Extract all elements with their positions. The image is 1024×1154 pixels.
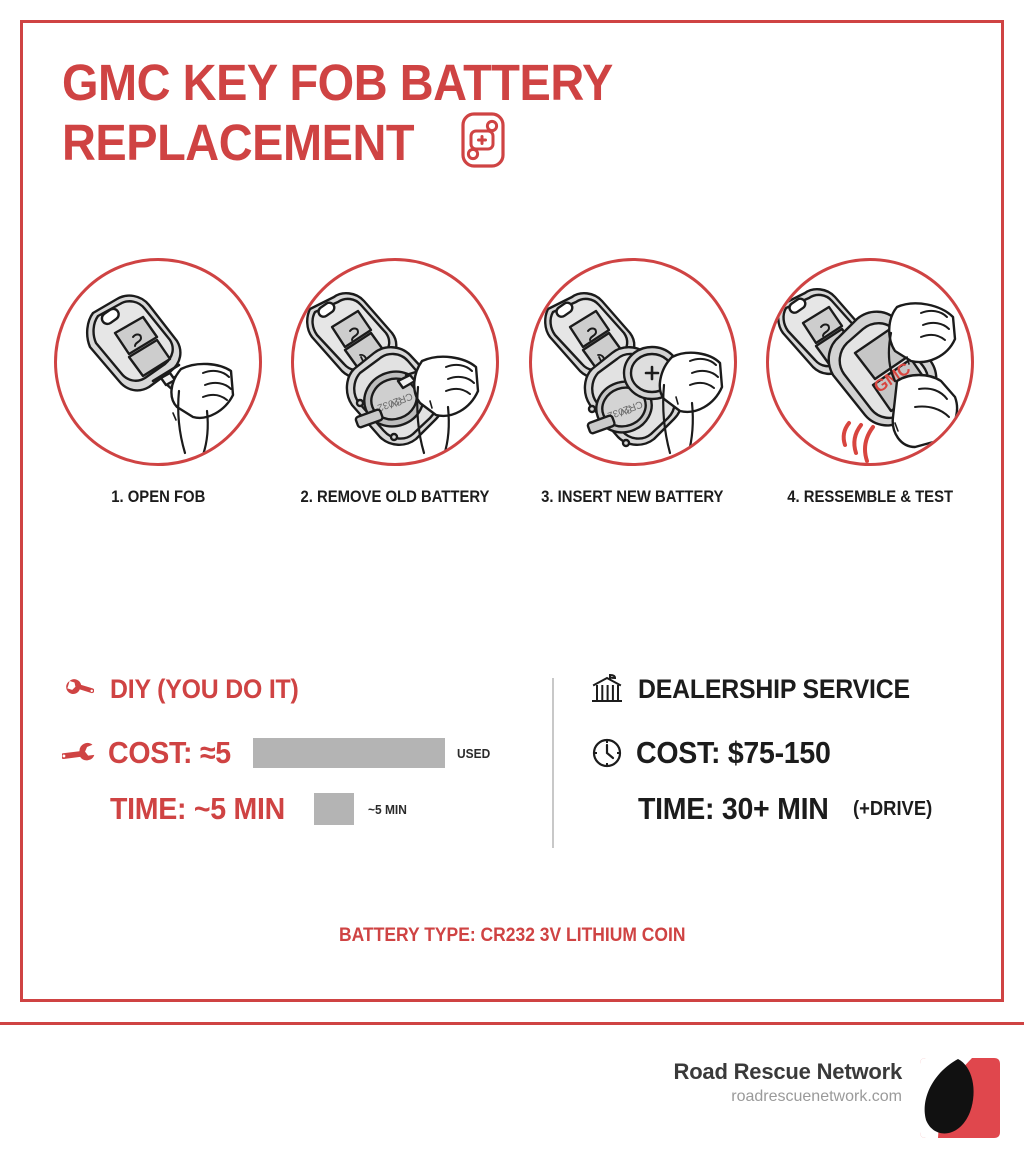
diy-time-row: TIME: ~5 MIN ~5 MIN [62, 788, 532, 830]
step-2: CR2032 3V 2. REMOVE OL [281, 258, 509, 538]
diy-time-bar-caption: ~5 MIN [368, 802, 407, 817]
diy-cost-bar [253, 738, 445, 768]
key-fob-icon [459, 111, 507, 174]
diy-cost-bar-caption: USED [457, 746, 490, 761]
road-rescue-network-logo [914, 1054, 1006, 1146]
step-4: GMC [756, 258, 984, 538]
step-4-label: 4. RESSEMBLE & TEST [787, 488, 953, 507]
steps-row: 1. OPEN FOB [44, 258, 984, 538]
step-1-label: 1. OPEN FOB [111, 488, 205, 507]
dealership-cost-label: COST: $75-150 [636, 735, 831, 771]
footer-divider-rule [0, 1022, 1024, 1025]
dealership-heading: DEALERSHIP SERVICE [638, 674, 910, 705]
title-line-1: GMC KEY FOB BATTERY [62, 55, 761, 111]
step-1: 1. OPEN FOB [44, 258, 272, 538]
battery-type-note: BATTERY TYPE: CR232 3V LITHIUM COIN [0, 925, 1024, 947]
battery-type-text: BATTERY TYPE: CR232 3V LITHIUM COIN [339, 925, 685, 947]
diy-cost-label: COST: ≈5 [108, 735, 231, 771]
dealership-column: DEALERSHIP SERVICE COST: $75-150 TIME: 3… [590, 668, 1010, 830]
step-3: CR2032 3V 3. INSERT NE [519, 258, 747, 538]
clock-icon [590, 736, 624, 770]
footer: Road Rescue Network roadrescuenetwork.co… [0, 1040, 1024, 1150]
dealership-time-row: TIME: 30+ MIN (+DRIVE) [590, 788, 1010, 830]
diy-heading-row: DIY (YOU DO IT) [62, 668, 532, 710]
step-1-illustration [54, 258, 262, 466]
dealership-time-note: (+DRIVE) [853, 798, 932, 821]
wrench-icon [62, 672, 96, 706]
comparison-divider [552, 678, 554, 848]
dealership-cost-row: COST: $75-150 [590, 732, 1010, 774]
dealership-heading-row: DEALERSHIP SERVICE [590, 668, 1010, 710]
brand-url: roadrescuenetwork.com [674, 1086, 903, 1108]
diy-time-bar [314, 793, 354, 825]
step-3-illustration: CR2032 3V [529, 258, 737, 466]
step-2-illustration: CR2032 3V [291, 258, 499, 466]
dealership-time-label: TIME: 30+ MIN [638, 791, 829, 827]
diy-time-label: TIME: ~5 MIN [110, 791, 285, 827]
title-line-2: REPLACEMENT [62, 115, 414, 171]
bank-icon [590, 672, 624, 706]
step-2-label: 2. REMOVE OLD BATTERY [301, 488, 490, 507]
diy-heading: DIY (YOU DO IT) [110, 674, 299, 705]
brand-name: Road Rescue Network [674, 1058, 903, 1086]
comparison-section: DIY (YOU DO IT) COST: ≈5 USED TIME: ~5 M… [62, 668, 962, 848]
step-4-illustration: GMC [766, 258, 974, 466]
diy-cost-row: COST: ≈5 USED [62, 732, 532, 774]
brand-block: Road Rescue Network roadrescuenetwork.co… [674, 1058, 903, 1108]
diy-column: DIY (YOU DO IT) COST: ≈5 USED TIME: ~5 M… [62, 668, 532, 830]
page-title: GMC KEY FOB BATTERY REPLACEMENT [62, 55, 822, 174]
wrench-icon [62, 736, 96, 770]
step-3-label: 3. INSERT NEW BATTERY [541, 488, 723, 507]
